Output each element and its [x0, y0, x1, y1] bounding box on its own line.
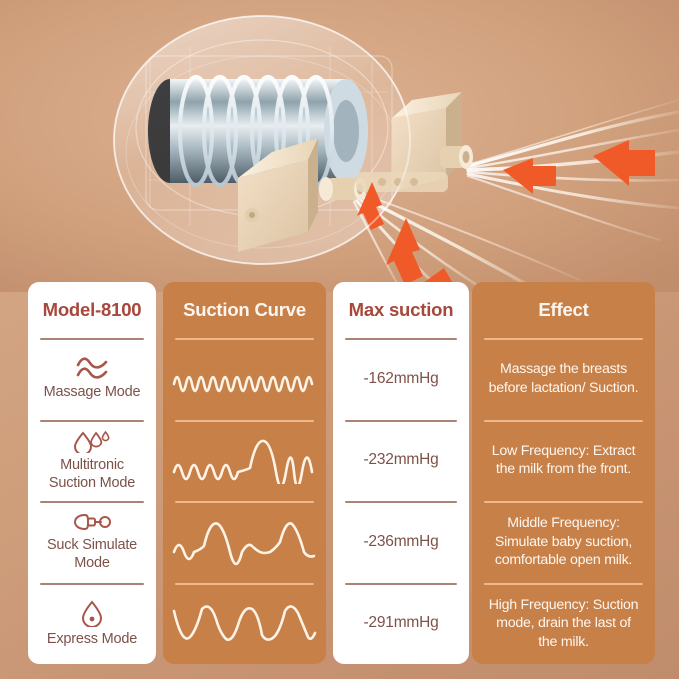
infographic-page: Model-8100 Massage Mode	[0, 0, 679, 679]
pump-motor-cutaway-illustration	[0, 0, 679, 292]
table-row[interactable]: Express Mode	[28, 583, 156, 665]
pacifier-icon	[72, 511, 112, 533]
effect-description: Middle Frequency: Simulate baby suction,…	[479, 514, 648, 570]
effect-description: Massage the breasts before lactation/ Su…	[479, 360, 648, 397]
column-header-model: Model-8100	[28, 282, 156, 338]
max-suction-value: -232mmHg	[363, 451, 438, 469]
table-row[interactable]: Suck Simulate Mode	[28, 501, 156, 583]
air-nozzle-right	[440, 145, 473, 169]
table-row[interactable]	[163, 338, 326, 420]
waveform-massage-mode	[172, 358, 317, 400]
table-row[interactable]: Multitronic Suction Mode	[28, 420, 156, 502]
column-suction-curve: Suction Curve	[163, 282, 326, 664]
column-model: Model-8100 Massage Mode	[28, 282, 156, 664]
mode-label: Suck Simulate Mode	[35, 536, 149, 572]
table-row[interactable]: -236mmHg	[333, 501, 469, 583]
column-max-suction: Max suction -162mmHg -232mmHg -236mmHg -…	[333, 282, 469, 664]
table-row[interactable]: Low Frequency: Extract the milk from the…	[472, 420, 655, 502]
table-row[interactable]: -232mmHg	[333, 420, 469, 502]
waveform-multitronic-suction-mode	[172, 436, 317, 484]
max-suction-value: -162mmHg	[363, 370, 438, 388]
effect-rows: Massage the breasts before lactation/ Su…	[472, 338, 655, 664]
double-wave-icon	[75, 356, 109, 380]
table-row[interactable]: Middle Frequency: Simulate baby suction,…	[472, 501, 655, 583]
product-hero-image	[0, 0, 679, 292]
waveform-suck-simulate-mode	[172, 516, 317, 568]
three-droplets-icon	[72, 429, 112, 453]
table-row[interactable]	[163, 583, 326, 665]
table-row[interactable]	[163, 420, 326, 502]
column-header-max-suction: Max suction	[333, 282, 469, 338]
effect-description: Low Frequency: Extract the milk from the…	[479, 442, 648, 479]
table-row[interactable]: Massage Mode	[28, 338, 156, 420]
column-header-effect: Effect	[472, 282, 655, 338]
max-suction-value: -236mmHg	[363, 533, 438, 551]
column-header-suction-curve: Suction Curve	[163, 282, 326, 338]
column-effect: Effect Massage the breasts before lactat…	[472, 282, 655, 664]
waveform-express-mode	[172, 599, 317, 647]
max-suction-value: -291mmHg	[363, 614, 438, 632]
single-droplet-icon	[79, 599, 105, 627]
curve-rows	[163, 338, 326, 664]
table-row[interactable]: -162mmHg	[333, 338, 469, 420]
table-row[interactable]: Massage the breasts before lactation/ Su…	[472, 338, 655, 420]
mode-label: Massage Mode	[44, 383, 141, 401]
mode-label: Multitronic Suction Mode	[35, 456, 149, 492]
specification-table: Model-8100 Massage Mode	[28, 282, 655, 664]
table-row[interactable]	[163, 501, 326, 583]
table-row[interactable]: -291mmHg	[333, 583, 469, 665]
mode-label: Express Mode	[47, 630, 137, 648]
model-rows: Massage Mode Multitronic Suction Mode	[28, 338, 156, 664]
max-suction-rows: -162mmHg -232mmHg -236mmHg -291mmHg	[333, 338, 469, 664]
effect-description: High Frequency: Suction mode, drain the …	[479, 596, 648, 652]
table-row[interactable]: High Frequency: Suction mode, drain the …	[472, 583, 655, 665]
